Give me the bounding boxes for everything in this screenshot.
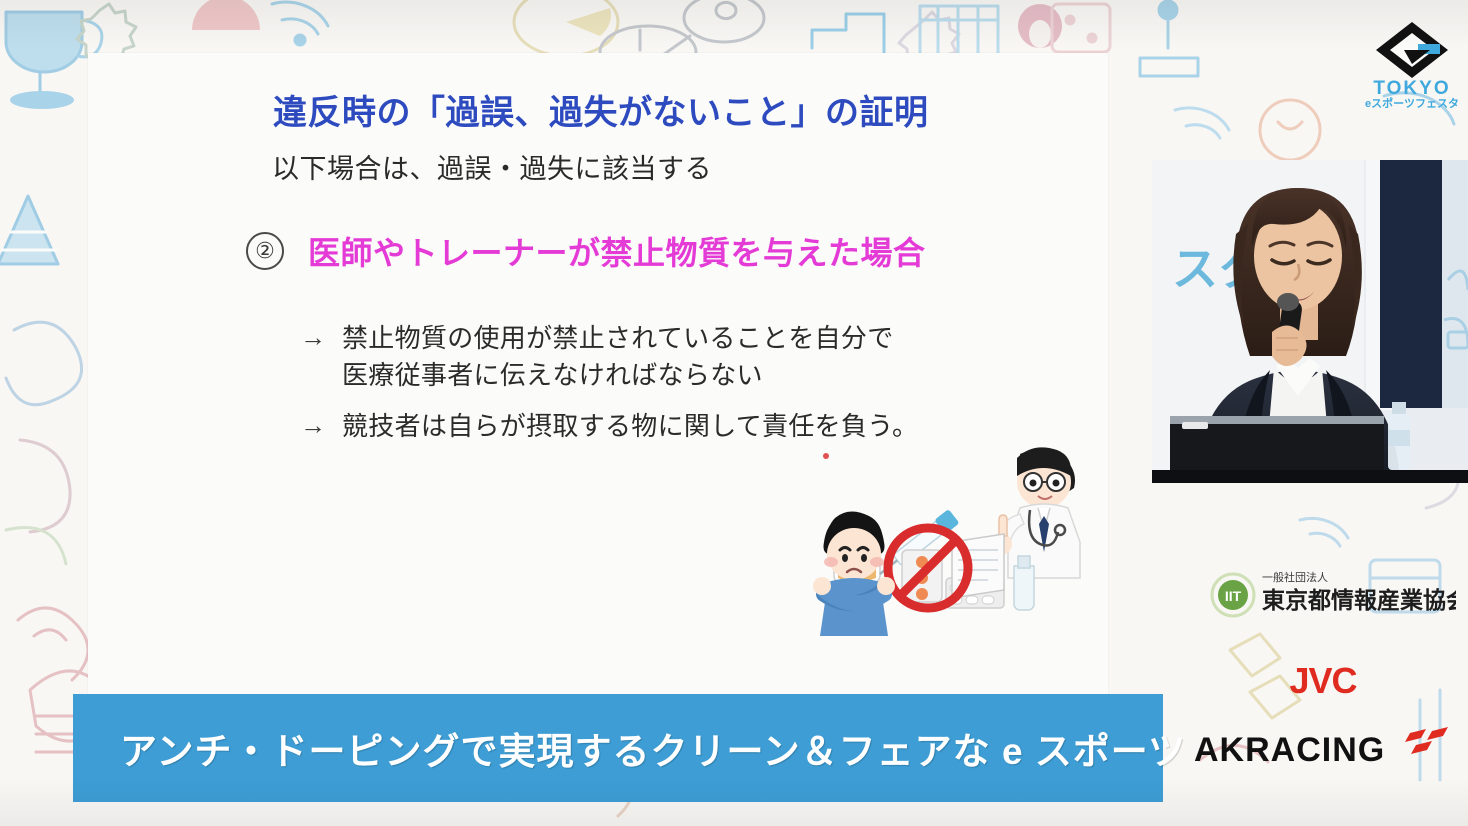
slide-title: 違反時の「過誤、過失がないこと」の証明 [273,85,929,134]
akracing-logo: AKRACING [1188,725,1453,769]
presentation-slide: 違反時の「過誤、過失がないこと」の証明 以下場合は、過誤・過失に該当する ② 医… [88,53,1108,708]
numbered-item: ② 医師やトレーナーが禁止物質を与えた場合 [246,228,926,274]
svg-text:東京都情報産業協会: 東京都情報産業協会 [1262,587,1456,613]
svg-text:eスポーツフェスタ: eスポーツフェスタ [1365,96,1459,110]
svg-text:TOKYO: TOKYO [1373,78,1450,99]
tokyo-esports-festa-logo: TOKYO eスポーツフェスタ [1360,6,1465,111]
arrow-icon: → [300,320,326,355]
svg-text:JVC: JVC [1289,660,1357,700]
svg-text:AKRACING: AKRACING [1194,731,1385,769]
bullet-point: → 禁止物質の使用が禁止されていることを自分で 医療従事者に伝えなければならない [300,320,894,394]
broadcast-frame: 違反時の「過誤、過失がないこと」の証明 以下場合は、過誤・過失に該当する ② 医… [0,0,1468,826]
svg-text:一般社団法人: 一般社団法人 [1262,570,1328,584]
lower-third-banner: アンチ・ドーピングで実現するクリーン＆フェアな e スポーツ [73,694,1163,802]
speaker-video-feed[interactable]: スタ [1152,160,1468,483]
jvc-logo: JVC [1268,660,1378,700]
slide-illustration [798,438,1098,658]
slide-subtitle: 以下場合は、過誤・過失に該当する [272,147,712,186]
bullet-text: 禁止物質の使用が禁止されていることを自分で 医療従事者に伝えなければならない [342,320,894,394]
arrow-icon: → [300,408,326,443]
item-heading: 医師やトレーナーが禁止物質を与えた場合 [308,228,926,274]
banner-title: アンチ・ドーピングで実現するクリーン＆フェアな e スポーツ [120,721,1186,775]
boy-crossing-arms-illustration [813,511,895,636]
tokyo-it-association-logo: IIT 一般社団法人 東京都情報産業協会 [1206,563,1456,623]
right-sidebar: TOKYO eスポーツフェスタ [1108,0,1468,826]
svg-text:IIT: IIT [1225,588,1242,604]
item-number-badge: ② [246,232,284,270]
